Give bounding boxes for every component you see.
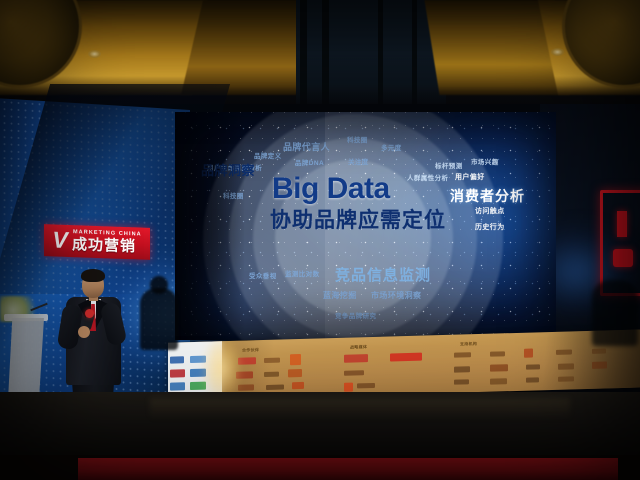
sponsor-logo-tile	[454, 366, 470, 372]
sponsor-logo-tile	[290, 354, 301, 365]
sponsor-logo-tile	[170, 356, 184, 363]
sponsor-logo-tile	[288, 369, 302, 377]
right-banner-mark-1	[617, 211, 627, 237]
sponsor-section-label-3: 支持机构	[460, 341, 477, 347]
banner-chinese-text: 成功营销	[72, 236, 136, 255]
sponsor-logo-tile	[344, 370, 364, 376]
ceiling-downlight-left	[88, 50, 101, 58]
sponsor-logo-tile	[524, 349, 533, 358]
sponsor-logo-tile	[592, 361, 607, 368]
sponsor-logo-tile	[357, 383, 375, 389]
sponsor-logo-tile	[266, 384, 284, 390]
sponsor-logo-tile	[526, 364, 540, 369]
podium	[8, 318, 44, 400]
slide-keyword-top-diversity: 多元度	[381, 142, 402, 152]
sponsor-logo-tile	[592, 348, 606, 353]
slide-keyword-top-tech: 科技圈	[347, 134, 368, 144]
right-banner-mark-2	[613, 249, 633, 267]
sponsor-section-label-1: 合作伙伴	[242, 347, 259, 353]
speaker-hair	[81, 269, 105, 282]
sponsor-logo-tile	[490, 378, 507, 384]
sponsor-board-lens-flare	[202, 333, 242, 401]
slide-keyword-attention: 关注度	[348, 156, 369, 166]
slide-keyword-audience-attr: 人群属性分析	[407, 172, 448, 182]
stage-photo: V MARKETING CHINA 成功营销 品牌代言人 科技圈 多元度 品牌定…	[0, 0, 640, 480]
slide-keyword-market-interest: 市场兴趣	[471, 156, 499, 166]
sponsor-logo-tile	[526, 377, 539, 382]
sponsor-logo-tile	[558, 363, 574, 369]
sponsor-logo-tile	[454, 379, 469, 384]
pillar-consumer-analysis: 消费者分析	[450, 186, 525, 206]
ceiling-downlight-right	[551, 48, 564, 56]
v-logo-icon: V	[49, 228, 71, 253]
slide-keyword-competitor-research: 竞争品牌研究	[335, 310, 376, 320]
slide-subheadline: 协助品牌应需定位	[270, 204, 446, 234]
slide-keyword-market-environment: 市场环境洞察	[371, 290, 421, 301]
slide-keyword-touchpoint: 访问触点	[475, 206, 505, 216]
sponsor-logo-tile	[454, 352, 471, 357]
sponsor-logo-tile	[344, 383, 353, 392]
sponsor-logo-tile	[344, 354, 368, 363]
slide-keyword-brand-definition: 品牌定义	[254, 150, 282, 160]
sponsor-logo-tile	[170, 369, 185, 377]
sponsor-logo-tile	[264, 372, 279, 377]
pillar-competitor-monitoring: 竞品信息监测	[335, 264, 431, 285]
sponsor-logo-tile	[390, 353, 422, 362]
silhouette-head-center	[150, 276, 168, 294]
silhouette-figure-center	[140, 288, 178, 350]
stage-front-red-band	[78, 458, 618, 480]
sponsor-logo-tile	[292, 382, 304, 389]
sponsor-logo-tile	[264, 358, 280, 363]
sponsor-logo-tile	[556, 349, 572, 354]
microphone-red-windscreen	[85, 309, 94, 318]
sponsor-logo-tile	[558, 376, 574, 381]
silhouette-figure-right	[592, 280, 638, 346]
slide-keyword-benchmark: 标杆预测	[435, 160, 463, 170]
slide-keyword-audience-view: 受众垂视	[249, 270, 277, 280]
sponsor-section-label-2: 战略媒体	[350, 344, 367, 350]
slide-headline: Big Data	[272, 172, 390, 206]
marketing-china-banner: V MARKETING CHINA 成功营销	[44, 224, 150, 260]
slide-keyword-top-spokesperson: 品牌代言人	[283, 140, 330, 153]
sponsor-logo-tile	[490, 351, 505, 356]
slide-keyword-blue-ocean: 蓝海挖掘	[323, 290, 357, 301]
slide-keyword-history: 历史行为	[475, 222, 505, 232]
slide-keyword-brand-dna: 品牌DNA	[295, 157, 324, 167]
screen-left-falloff	[175, 112, 245, 340]
slide-keyword-monitor-compare: 监测比对数	[285, 268, 320, 278]
sponsor-logo-tile	[490, 364, 508, 372]
sponsor-logo-tile	[170, 382, 185, 390]
slide-keyword-user-preference: 用户偏好	[455, 172, 485, 182]
projection-screen: 品牌代言人 科技圈 多元度 品牌定义 品牌DNA 关注度 用户生命周期分析 科技…	[175, 112, 556, 340]
speaker-hand	[78, 326, 90, 338]
stage-floor-sheen	[150, 398, 570, 420]
